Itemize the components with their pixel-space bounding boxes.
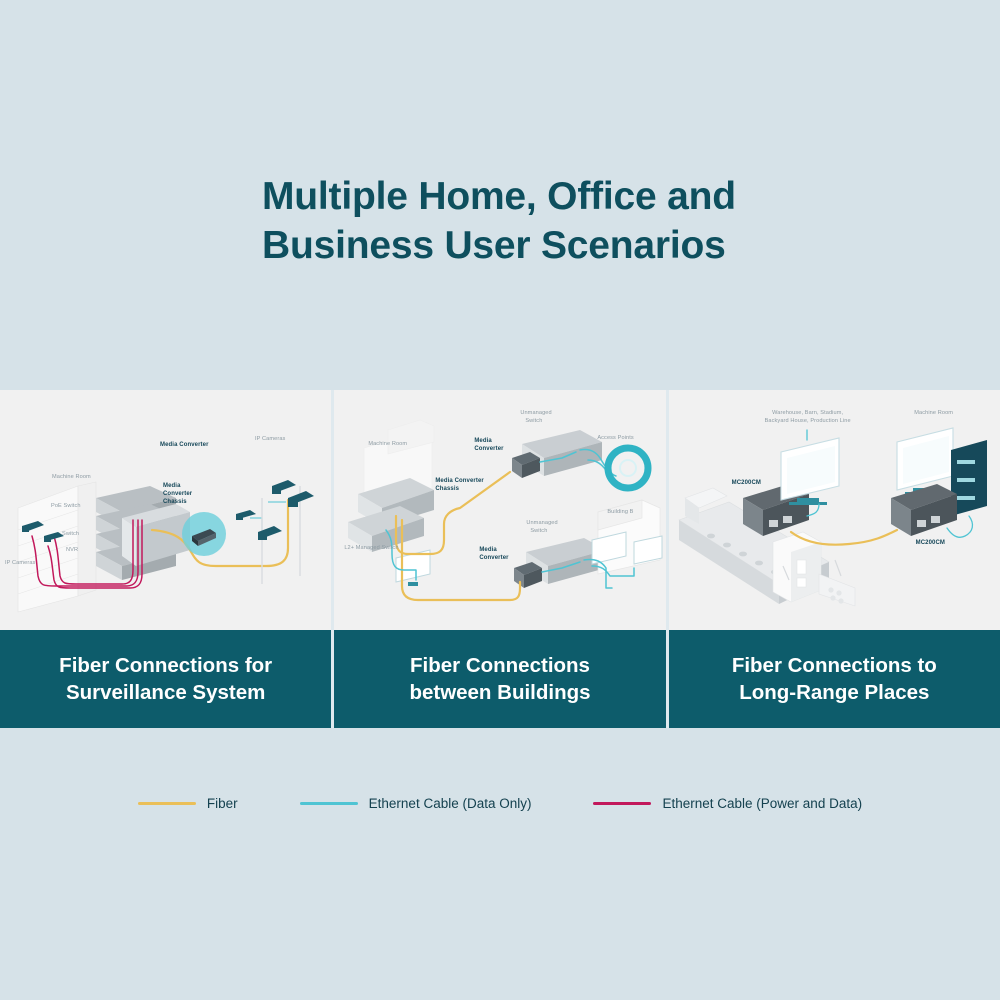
label-poe-switch: PoE Switch (51, 503, 81, 510)
caption-long-range: Fiber Connections to Long-Range Places (669, 630, 1000, 728)
label-site-line-2: Backyard House, Production Line (713, 418, 903, 425)
surveillance-diagram (0, 390, 331, 630)
caption-buildings-line-1: Fiber Connections (410, 652, 590, 679)
label-nvr: NVR (66, 547, 78, 554)
label-media-converter-top-line1: Media (474, 438, 492, 445)
scenario-panel-strip: Machine Room PoE Switch Switch NVR IP Ca… (0, 390, 1000, 728)
caption-between-buildings: Fiber Connections between Buildings (334, 630, 665, 728)
label-machine-room-b: Machine Room (368, 441, 407, 448)
caption-long-range-line-2: Long-Range Places (739, 679, 929, 706)
legend-item-ethernet-data: Ethernet Cable (Data Only) (300, 796, 532, 811)
label-ip-cameras-right: IP Cameras (255, 436, 285, 443)
long-range-diagram (669, 390, 1000, 630)
legend-item-fiber: Fiber (138, 796, 238, 811)
label-media-converter-top-line2: Converter (474, 446, 503, 453)
label-access-points: Access Points (597, 435, 633, 442)
caption-surveillance-line-1: Fiber Connections for (59, 652, 272, 679)
legend: Fiber Ethernet Cable (Data Only) Etherne… (0, 788, 1000, 818)
panel-long-range[interactable]: Warehouse, Barn, Stadium, Backyard House… (666, 390, 1000, 728)
legend-label-fiber: Fiber (207, 796, 238, 811)
label-switch: Switch (62, 531, 79, 538)
label-unmanaged-switch-bottom-line1: Unmanaged (526, 520, 557, 527)
label-machine-room: Machine Room (52, 474, 91, 481)
label-unmanaged-switch-bottom-line2: Switch (530, 528, 547, 535)
label-mc200cm-left: MC200CM (732, 480, 761, 487)
label-media-converter-bottom-line2: Converter (479, 555, 508, 562)
label-unmanaged-switch-top-line1: Unmanaged (520, 410, 551, 417)
label-media-converter-chassis-b-line1: Media Converter (435, 478, 484, 485)
page-title-line-2: Business User Scenarios (262, 221, 882, 270)
legend-label-ethernet-power-data: Ethernet Cable (Power and Data) (662, 796, 862, 811)
legend-swatch-ethernet-power-data (593, 802, 651, 805)
label-mc200cm-right: MC200CM (916, 540, 945, 547)
label-media-converter-bottom-line1: Media (479, 547, 497, 554)
panel-surveillance[interactable]: Machine Room PoE Switch Switch NVR IP Ca… (0, 390, 331, 728)
panel-between-buildings[interactable]: Machine Room Media Converter Chassis L2+… (331, 390, 665, 728)
legend-label-ethernet-data: Ethernet Cable (Data Only) (369, 796, 532, 811)
label-media-converter: Media Converter (160, 442, 209, 449)
caption-long-range-line-1: Fiber Connections to (732, 652, 937, 679)
label-site-line-1: Warehouse, Barn, Stadium, (713, 410, 903, 417)
legend-swatch-ethernet-data (300, 802, 358, 805)
label-media-converter-chassis-line2: Converter (163, 491, 192, 498)
label-building-b: Building B (607, 509, 633, 516)
label-machine-room-c: Machine Room (879, 410, 989, 417)
illustration-surveillance: Machine Room PoE Switch Switch NVR IP Ca… (0, 390, 331, 630)
illustration-long-range: Warehouse, Barn, Stadium, Backyard House… (669, 390, 1000, 630)
caption-buildings-line-2: between Buildings (409, 679, 590, 706)
illustration-between-buildings: Machine Room Media Converter Chassis L2+… (334, 390, 665, 630)
legend-swatch-fiber (138, 802, 196, 805)
label-media-converter-chassis-line1: Media (163, 483, 181, 490)
caption-surveillance-line-2: Surveillance System (66, 679, 265, 706)
label-ip-cameras-left: IP Cameras (5, 560, 35, 567)
page-title: Multiple Home, Office and Business User … (262, 172, 882, 270)
label-unmanaged-switch-top-line2: Switch (525, 418, 542, 425)
label-media-converter-chassis-b-line2: Chassis (435, 486, 459, 493)
label-media-converter-chassis-line3: Chassis (163, 499, 187, 506)
label-l2-managed-switch: L2+ Managed Switch (344, 545, 398, 552)
caption-surveillance: Fiber Connections for Surveillance Syste… (0, 630, 331, 728)
legend-item-ethernet-power-data: Ethernet Cable (Power and Data) (593, 796, 862, 811)
page-title-line-1: Multiple Home, Office and (262, 172, 882, 221)
